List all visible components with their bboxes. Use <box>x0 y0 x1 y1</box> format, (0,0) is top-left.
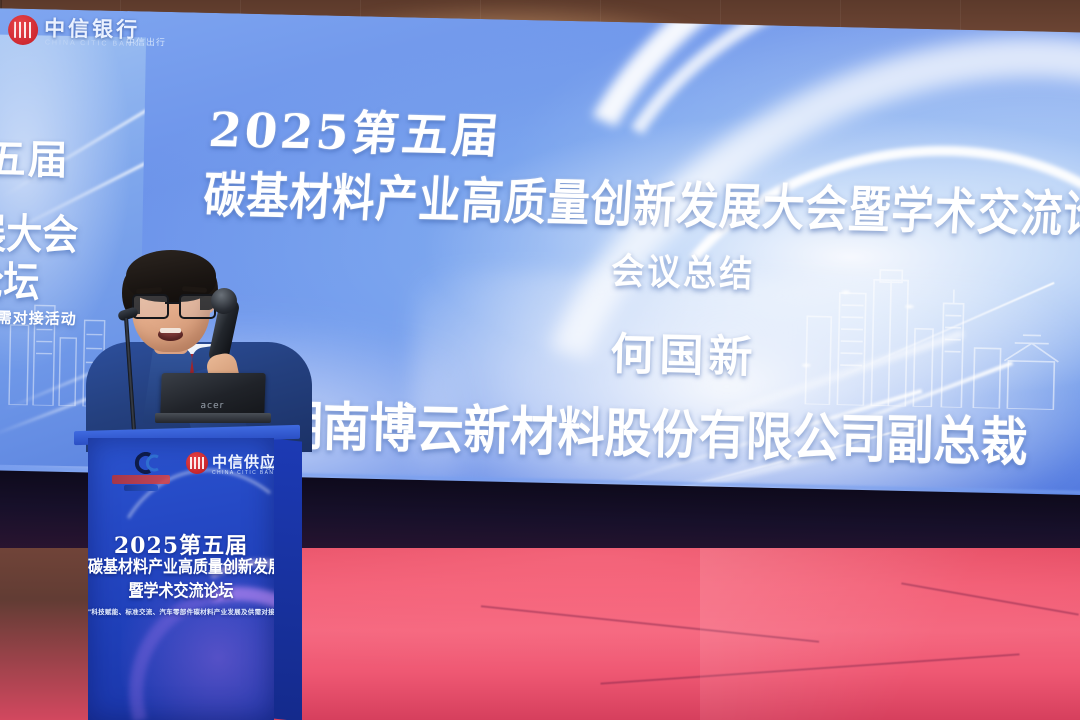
screen-section-label: 会议总结 <box>611 242 756 298</box>
laptop-base <box>155 413 271 423</box>
side-banner-line4: 发展及供需对接活动 <box>0 305 77 329</box>
stage-floor-sheen <box>700 548 1080 720</box>
podium-logo-alliance-sub <box>124 485 158 491</box>
citic-logo-icon <box>8 15 39 46</box>
citic-logo-tagline: 中信出行 <box>126 35 166 49</box>
lens-left <box>132 294 169 319</box>
laptop-lid: acer <box>160 373 265 415</box>
citic-bank-logo: 中信银行 CHINA CITIC BANK 中信出行 <box>8 13 159 60</box>
podium-front-panel: 中信供应 CHINA CITIC BANK 中信合作 2025第五届 碳基材料产… <box>88 438 274 720</box>
podium-citic-tag: 中信合作 <box>260 464 274 471</box>
teeth <box>160 328 181 333</box>
laptop[interactable]: acer <box>155 373 271 431</box>
podium: 中信供应 CHINA CITIC BANK 中信合作 2025第五届 碳基材料产… <box>76 428 300 720</box>
side-banner-line3: 论坛 <box>0 248 40 309</box>
citic-logo-icon-podium <box>186 452 208 474</box>
podium-logo-alliance-name <box>112 475 170 484</box>
podium-title-line1: 碳基材料产业高质量创新发展大会 <box>88 555 274 579</box>
carbon-alliance-icon <box>120 452 160 474</box>
side-banner-line1: 五届 <box>0 126 70 186</box>
eyeglasses-icon <box>130 294 214 316</box>
podium-subtitle: "科技赋能、标准交流、汽车零部件碳材料产业发展及供需对接活动" <box>88 606 274 616</box>
laptop-brand-label: acer <box>200 401 224 411</box>
screen-year-line: 2025第五届 <box>206 91 505 166</box>
podium-title-line2: 暨学术交流论坛 <box>88 579 274 603</box>
conference-stage-photo: 2025第五届 碳基材料产业高质量创新发展大会暨学术交流论坛 会议总结 何国新 … <box>0 0 1080 720</box>
glasses-bridge <box>165 302 179 304</box>
podium-logo-citic: 中信供应 CHINA CITIC BANK 中信合作 <box>186 452 274 486</box>
podium-side-panel <box>272 438 302 720</box>
screen-main-title: 碳基材料产业高质量创新发展大会暨学术交流论坛 <box>202 155 1080 248</box>
podium-logo-alliance <box>112 452 174 492</box>
screen-speaker-name: 何国新 <box>610 318 758 385</box>
